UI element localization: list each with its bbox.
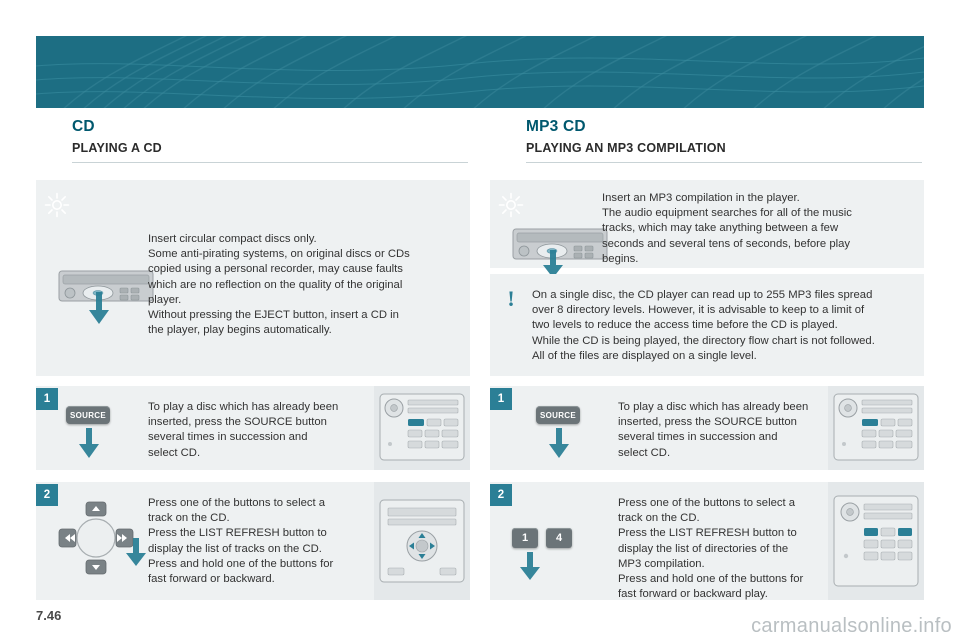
right-warning-panel: ! On a single disc, the CD player can re… xyxy=(490,274,924,376)
right-step2-badge: 2 xyxy=(490,484,512,506)
top-banner xyxy=(36,36,924,108)
right-subtitle: PLAYING AN MP3 COMPILATION xyxy=(526,141,726,155)
pointer-arrow-icon xyxy=(124,538,148,573)
right-intro-panel: Insert an MP3 compilation in the player.… xyxy=(490,180,924,268)
left-step1-panel: SOURCE To play a disc which has already … xyxy=(36,386,470,470)
radio-unit-icon xyxy=(828,386,924,470)
left-step1-badge: 1 xyxy=(36,388,58,410)
radio-unit-icon xyxy=(374,386,470,470)
directional-pad-icon[interactable] xyxy=(58,500,134,581)
pointer-arrow-icon xyxy=(76,428,102,465)
left-column-header: CD PLAYING A CD xyxy=(36,108,470,174)
left-step2-badge: 2 xyxy=(36,484,58,506)
right-column-header: MP3 CD PLAYING AN MP3 COMPILATION xyxy=(490,108,924,174)
radio-unit-icon xyxy=(828,482,924,600)
left-header-rule xyxy=(72,162,468,163)
right-step2-image-box xyxy=(828,482,924,600)
source-button[interactable]: SOURCE xyxy=(536,406,580,424)
right-header-rule xyxy=(526,162,922,163)
left-step1-image-box xyxy=(374,386,470,470)
left-intro-panel: Insert circular compact discs only. Some… xyxy=(36,180,470,376)
right-step1-text: To play a disc which has already been in… xyxy=(618,400,828,461)
manual-page: CD PLAYING A CD MP3 CD PLAYING AN MP3 CO… xyxy=(0,0,960,640)
pointer-arrow-icon xyxy=(518,552,542,587)
left-step2-image-box xyxy=(374,482,470,600)
right-step1-image-box xyxy=(828,386,924,470)
left-step2-text: Press one of the buttons to select a tra… xyxy=(148,496,368,587)
left-subtitle: PLAYING A CD xyxy=(72,141,162,155)
pointer-arrow-icon xyxy=(86,292,112,331)
right-step2-panel: 1 4 Press one of the buttons to select a… xyxy=(490,482,924,600)
left-step2-panel: Press one of the buttons to select a tra… xyxy=(36,482,470,600)
preset-button-4[interactable]: 4 xyxy=(546,528,572,548)
right-title: MP3 CD xyxy=(526,118,586,136)
left-step1-text: To play a disc which has already been in… xyxy=(148,400,368,461)
exclamation-icon: ! xyxy=(498,286,524,312)
right-step1-badge: 1 xyxy=(490,388,512,410)
right-step1-panel: SOURCE To play a disc which has already … xyxy=(490,386,924,470)
left-intro-text: Insert circular compact discs only. Some… xyxy=(148,232,468,338)
source-button[interactable]: SOURCE xyxy=(66,406,110,424)
left-title: CD xyxy=(72,118,95,136)
page-number: 7.46 xyxy=(36,608,61,623)
sun-icon xyxy=(44,192,70,218)
radio-unit-icon xyxy=(374,482,470,600)
watermark: carmanualsonline.info xyxy=(751,615,952,638)
right-intro-text: Insert an MP3 compilation in the player.… xyxy=(602,191,922,267)
banner-pattern-icon xyxy=(36,36,924,108)
pointer-arrow-icon xyxy=(546,428,572,465)
sun-icon xyxy=(498,192,524,218)
right-step2-text: Press one of the buttons to select a tra… xyxy=(618,496,828,602)
right-warning-text: On a single disc, the CD player can read… xyxy=(532,288,918,364)
preset-button-1[interactable]: 1 xyxy=(512,528,538,548)
